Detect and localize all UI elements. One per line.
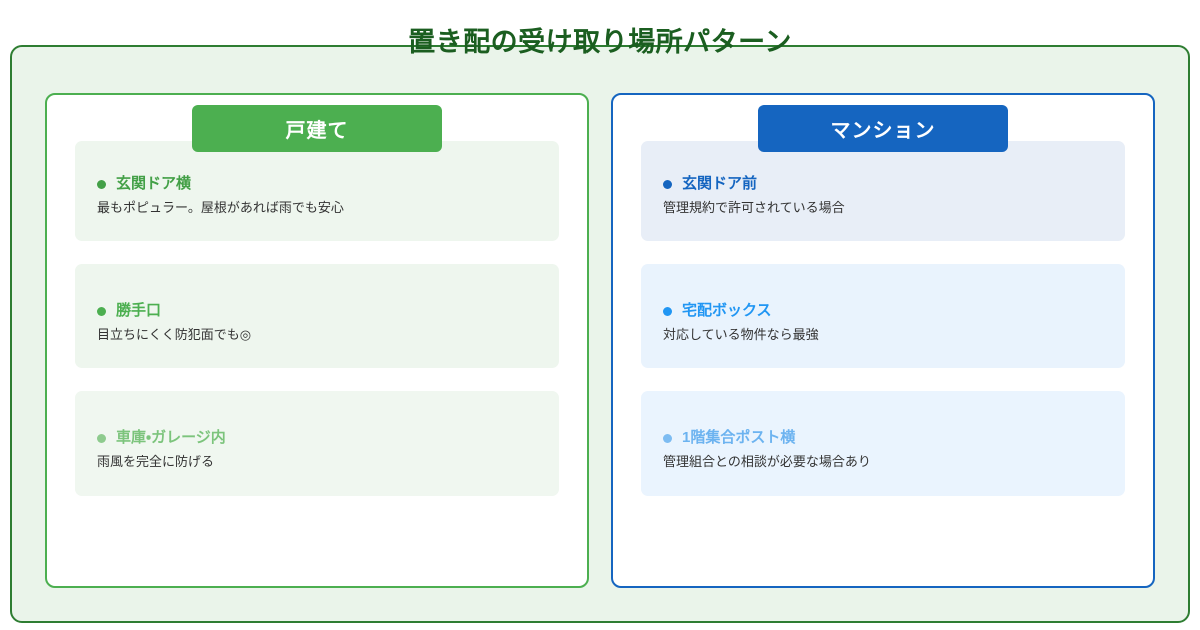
place-card-desc: 最もポピュラー。屋根があれば雨でも安心 (97, 199, 537, 217)
place-card-desc: 管理組合との相談が必要な場合あり (663, 453, 1103, 471)
place-card-title-row: 玄関ドア前 (663, 175, 1103, 193)
place-card-title: 勝手口 (116, 302, 161, 320)
bullet-dot-icon (97, 180, 106, 189)
place-card-title-row: 車庫・ガレージ内 (97, 429, 537, 447)
place-card-desc: 目立ちにくく防犯面でも◎ (97, 326, 537, 344)
place-card-title: 宅配ボックス (682, 302, 772, 320)
place-card-desc: 雨風を完全に防げる (97, 453, 537, 471)
place-card-title: 1階集合ポスト横 (682, 429, 795, 447)
place-card[interactable]: 車庫・ガレージ内 雨風を完全に防げる (75, 391, 559, 495)
place-card-title-row: 宅配ボックス (663, 302, 1103, 320)
place-card-title-row: 玄関ドア横 (97, 175, 537, 193)
bullet-dot-icon (663, 180, 672, 189)
columns-wrapper: 戸建て 玄関ドア横 最もポピュラー。屋根があれば雨でも安心 勝手口 目立ちにくく… (10, 45, 1190, 623)
place-card[interactable]: 玄関ドア前 管理規約で許可されている場合 (641, 141, 1125, 241)
place-card[interactable]: 勝手口 目立ちにくく防犯面でも◎ (75, 264, 559, 368)
place-card[interactable]: 玄関ドア横 最もポピュラー。屋根があれば雨でも安心 (75, 141, 559, 241)
place-card[interactable]: 1階集合ポスト横 管理組合との相談が必要な場合あり (641, 391, 1125, 495)
panel-detached-house: 戸建て 玄関ドア横 最もポピュラー。屋根があれば雨でも安心 勝手口 目立ちにくく… (45, 93, 589, 588)
bullet-dot-icon (97, 307, 106, 316)
place-card[interactable]: 宅配ボックス 対応している物件なら最強 (641, 264, 1125, 368)
place-card-title: 車庫・ガレージ内 (116, 429, 226, 447)
page-title: 置き配の受け取り場所パターン (0, 28, 1200, 58)
infographic-board: 置き配の受け取り場所パターン 戸建て 玄関ドア横 最もポピュラー。屋根があれば雨… (0, 0, 1200, 630)
place-card-desc: 管理規約で許可されている場合 (663, 199, 1103, 217)
place-card-title-row: 勝手口 (97, 302, 537, 320)
bullet-dot-icon (663, 307, 672, 316)
place-card-desc: 対応している物件なら最強 (663, 326, 1103, 344)
place-card-title: 玄関ドア前 (682, 175, 757, 193)
place-card-title-row: 1階集合ポスト横 (663, 429, 1103, 447)
bullet-dot-icon (97, 434, 106, 443)
panel-badge-detached-house: 戸建て (192, 105, 442, 152)
panel-badge-mansion: マンション (758, 105, 1008, 152)
card-list-detached-house: 玄関ドア横 最もポピュラー。屋根があれば雨でも安心 勝手口 目立ちにくく防犯面で… (75, 141, 559, 496)
panel-mansion: マンション 玄関ドア前 管理規約で許可されている場合 宅配ボックス 対応している… (611, 93, 1155, 588)
bullet-dot-icon (663, 434, 672, 443)
place-card-title: 玄関ドア横 (116, 175, 191, 193)
card-list-mansion: 玄関ドア前 管理規約で許可されている場合 宅配ボックス 対応している物件なら最強… (641, 141, 1125, 496)
